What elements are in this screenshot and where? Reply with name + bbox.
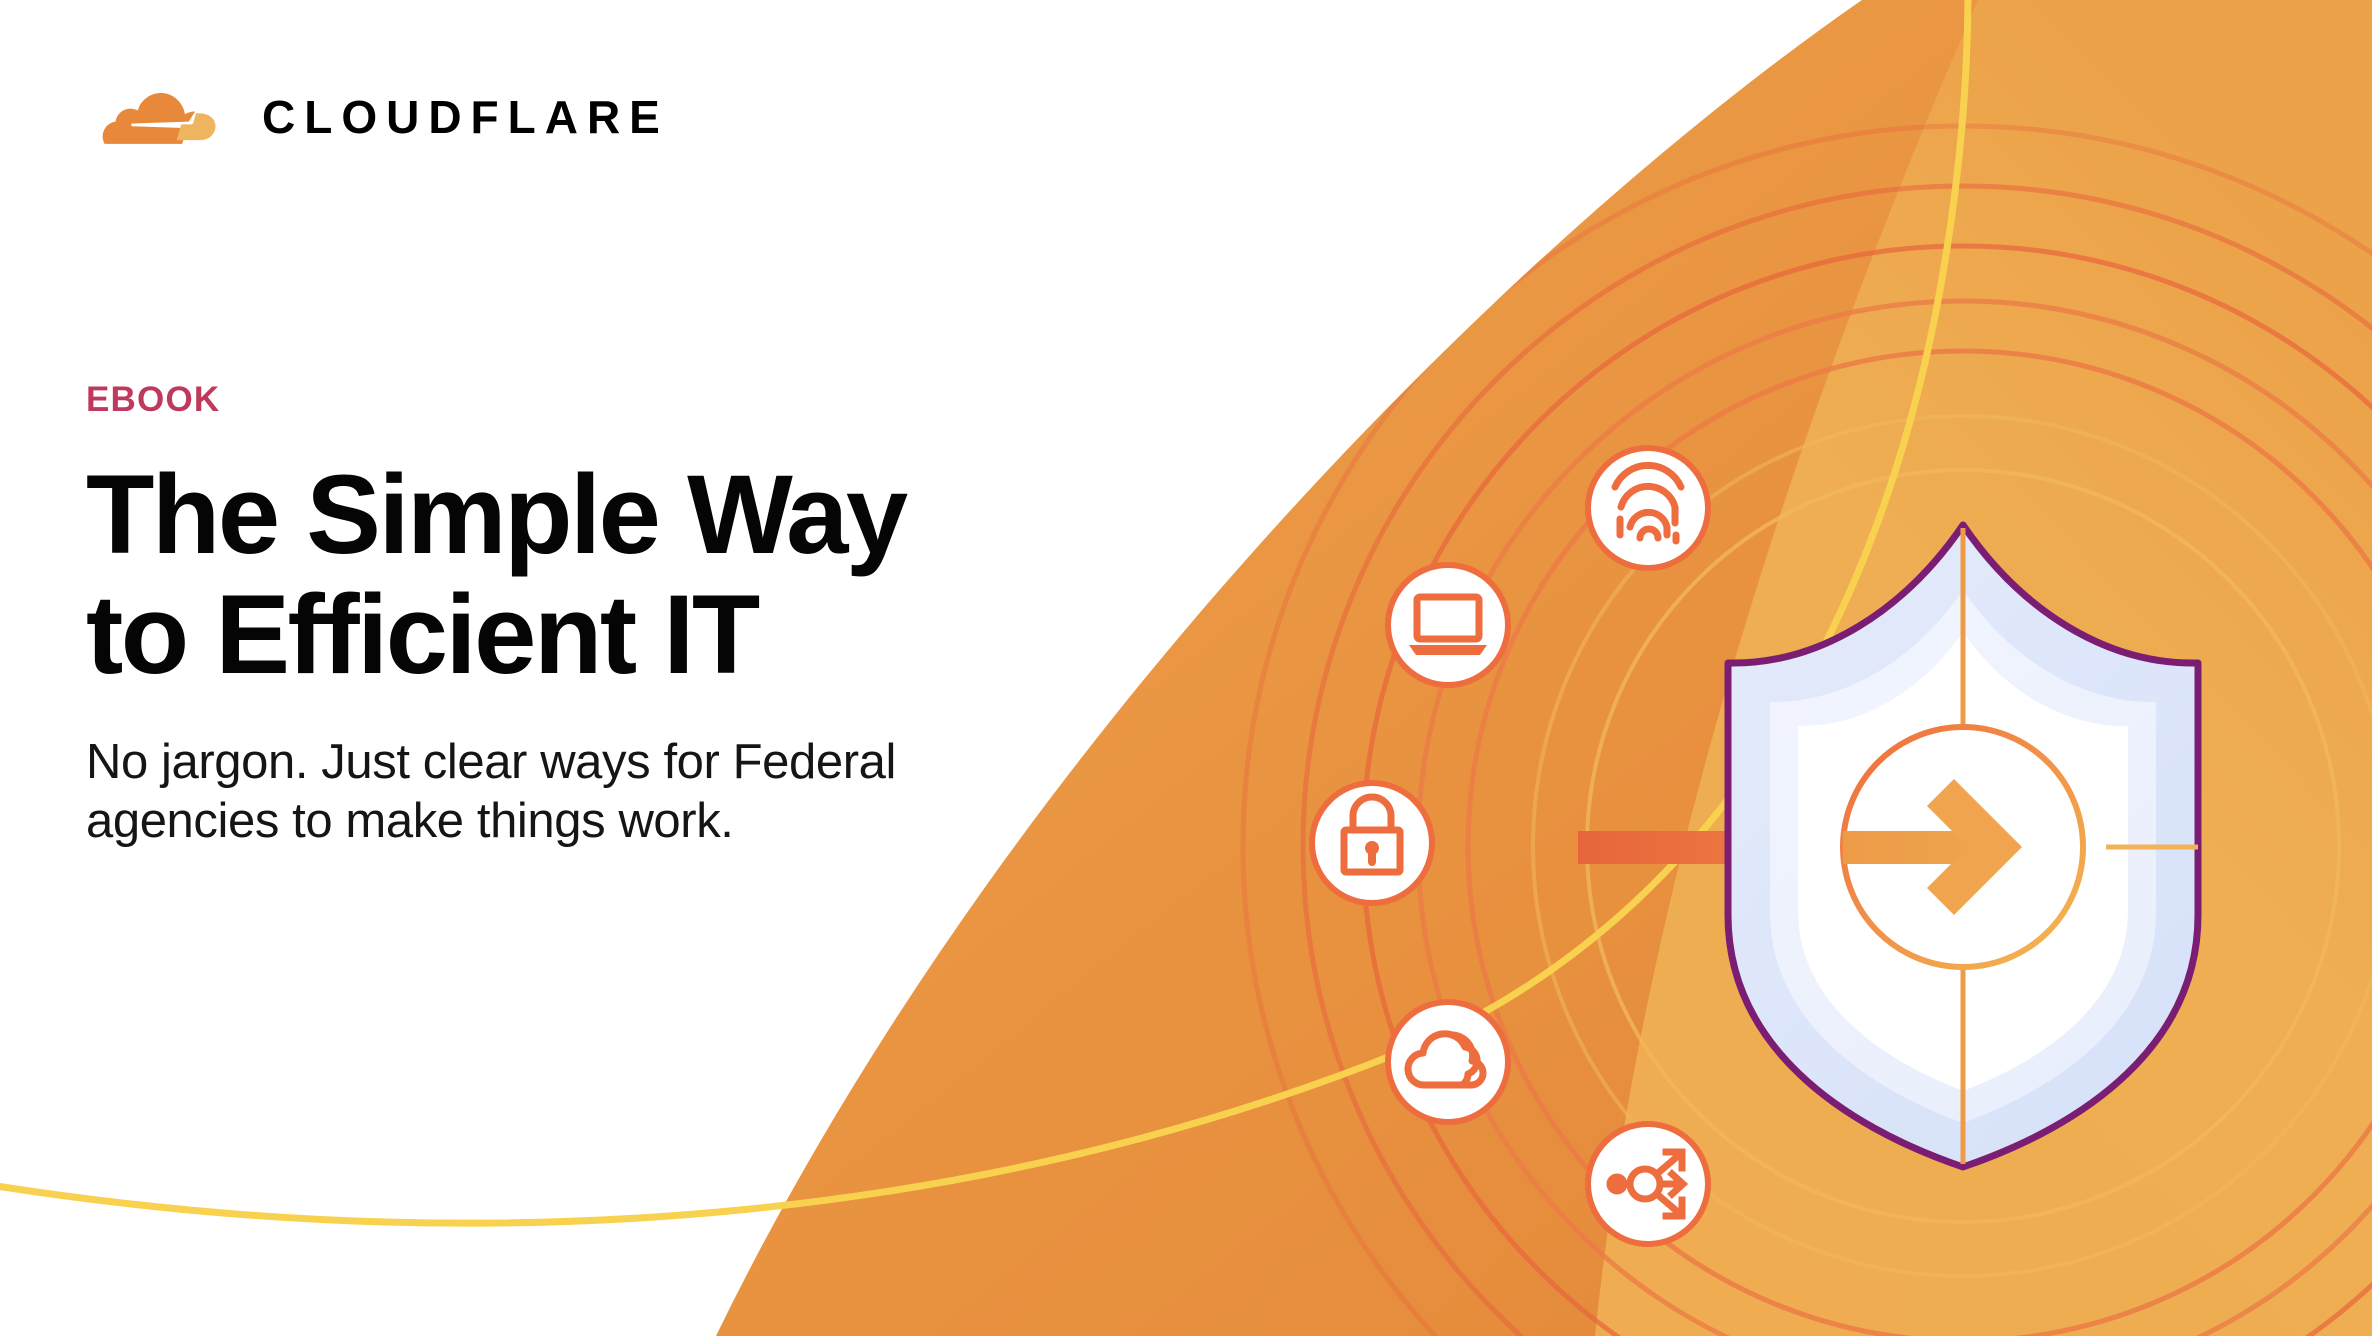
subtitle-line-1: No jargon. Just clear ways for Federal	[86, 733, 1206, 793]
brand-logo: CLOUDFLARE	[86, 80, 669, 154]
title-line-1: The Simple Way	[86, 455, 1206, 575]
icon-circle	[1388, 565, 1508, 685]
cover-copy: EBOOK The Simple Way to Efficient IT No …	[86, 382, 1206, 852]
cloudflare-cloud-logo	[86, 80, 234, 154]
page-subtitle: No jargon. Just clear ways for Federal a…	[86, 733, 1206, 853]
icon-circle	[1588, 1124, 1708, 1244]
cloud-icon-bubble	[1388, 1002, 1508, 1122]
ebook-cover: CLOUDFLARE EBOOK The Simple Way to Effic…	[0, 0, 2372, 1336]
security-shield	[1728, 525, 2198, 1167]
subtitle-line-2: agencies to make things work.	[86, 792, 1206, 852]
fingerprint-icon-bubble	[1588, 448, 1708, 568]
title-line-2: to Efficient IT	[86, 575, 1206, 695]
brand-name: CLOUDFLARE	[262, 94, 669, 140]
eyebrow-label: EBOOK	[86, 382, 1206, 417]
page-title: The Simple Way to Efficient IT	[86, 455, 1206, 695]
lock-icon-bubble	[1312, 783, 1432, 903]
laptop-icon-bubble	[1388, 565, 1508, 685]
network-share-icon-bubble	[1588, 1124, 1708, 1244]
